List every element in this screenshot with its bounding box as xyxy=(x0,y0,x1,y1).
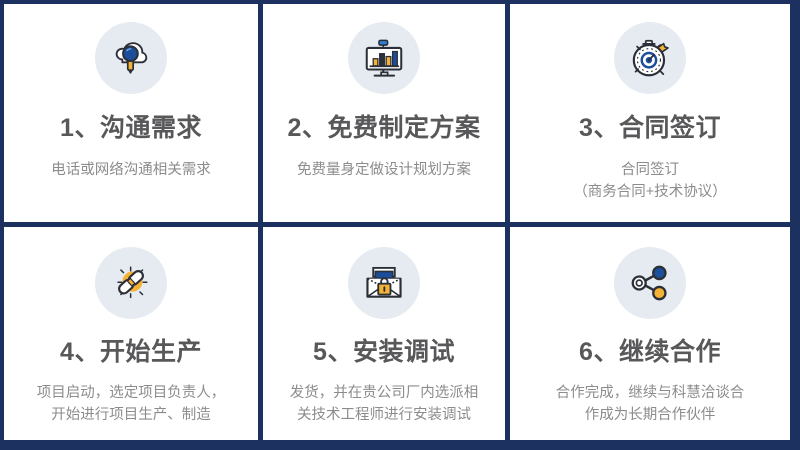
step-description: 发货，并在贵公司厂内选派相 关技术工程师进行安装调试 xyxy=(282,382,487,427)
step-title: 6、继续合作 xyxy=(579,339,721,367)
share-network-icon xyxy=(614,247,686,319)
desc-line: 合作完成，继续与科慧洽谈合 xyxy=(556,382,745,404)
step-title: 1、沟通需求 xyxy=(60,115,202,143)
desc-line: 免费量身定做设计规划方案 xyxy=(297,159,471,181)
step-card-3[interactable]: 3、合同签订 合同签订 （商务合同+技术协议） xyxy=(510,4,790,222)
step-title: 3、合同签订 xyxy=(579,115,721,143)
cloud-search-icon xyxy=(95,22,167,94)
chain-link-icon xyxy=(95,247,167,319)
desc-line: （商务合同+技术协议） xyxy=(573,181,726,203)
desc-line: 作成为长期合作伙伴 xyxy=(556,404,745,426)
step-description: 免费量身定做设计规划方案 xyxy=(289,159,479,181)
locked-folder-icon xyxy=(348,247,420,319)
process-flow-board: 1、沟通需求 电话或网络沟通相关需求 xyxy=(0,0,800,450)
step-title: 2、免费制定方案 xyxy=(288,115,481,143)
step-card-6[interactable]: 6、继续合作 合作完成，继续与科慧洽谈合 作成为长期合作伙伴 xyxy=(510,222,790,440)
steps-grid: 1、沟通需求 电话或网络沟通相关需求 xyxy=(4,4,790,440)
step-card-5[interactable]: 5、安装调试 发货，并在贵公司厂内选派相 关技术工程师进行安装调试 xyxy=(258,222,510,440)
step-description: 电话或网络沟通相关需求 xyxy=(43,159,219,181)
stopwatch-target-icon xyxy=(614,22,686,94)
monitor-chart-icon xyxy=(348,22,420,94)
desc-line: 开始进行项目生产、制造 xyxy=(37,404,226,426)
step-card-2[interactable]: 2、免费制定方案 免费量身定做设计规划方案 xyxy=(258,4,510,222)
step-card-1[interactable]: 1、沟通需求 电话或网络沟通相关需求 xyxy=(4,4,258,222)
step-description: 项目启动，选定项目负责人， 开始进行项目生产、制造 xyxy=(29,382,234,427)
step-title: 5、安装调试 xyxy=(313,339,455,367)
desc-line: 关技术工程师进行安装调试 xyxy=(290,404,479,426)
desc-line: 合同签订 xyxy=(573,159,726,181)
step-description: 合作完成，继续与科慧洽谈合 作成为长期合作伙伴 xyxy=(548,382,753,427)
step-description: 合同签订 （商务合同+技术协议） xyxy=(565,159,734,204)
desc-line: 电话或网络沟通相关需求 xyxy=(51,159,211,181)
step-title: 4、开始生产 xyxy=(60,339,202,367)
desc-line: 发货，并在贵公司厂内选派相 xyxy=(290,382,479,404)
desc-line: 项目启动，选定项目负责人， xyxy=(37,382,226,404)
step-card-4[interactable]: 4、开始生产 项目启动，选定项目负责人， 开始进行项目生产、制造 xyxy=(4,222,258,440)
